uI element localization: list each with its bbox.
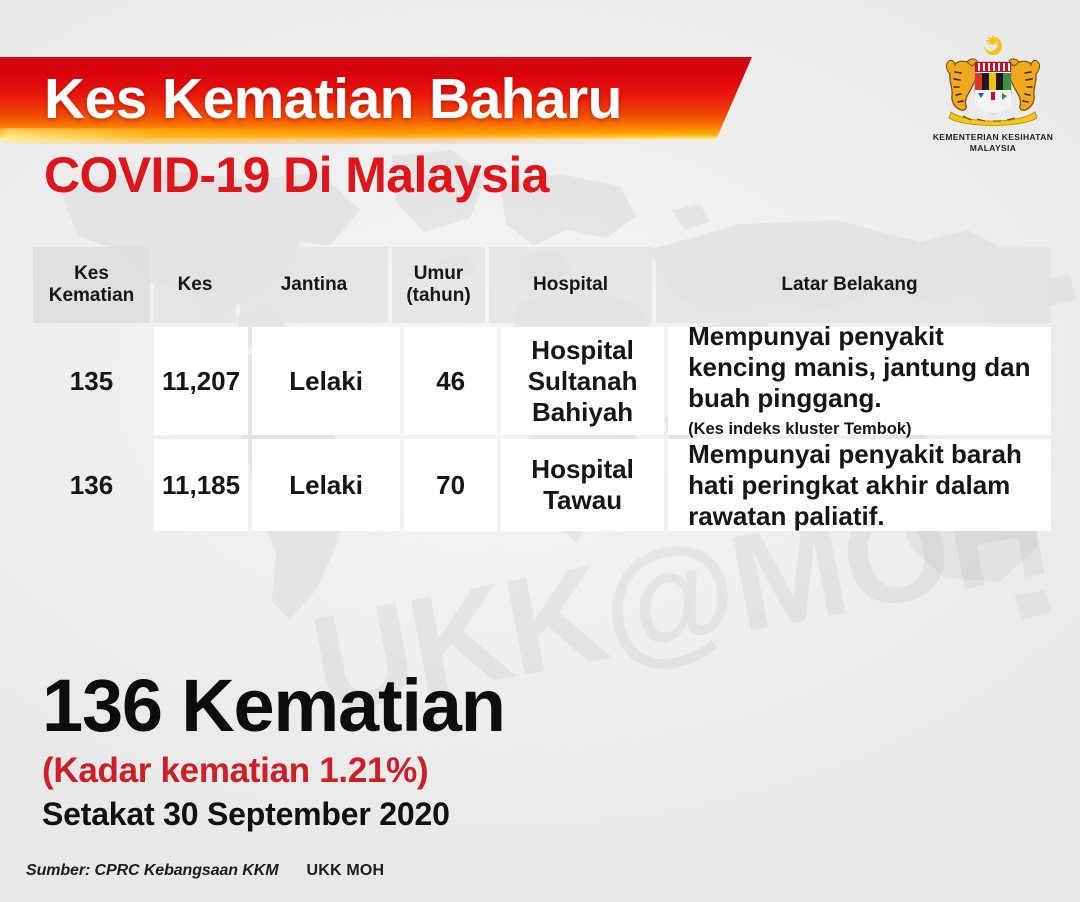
latar-belakang-text: Mempunyai penyakit barah hati peringkat … xyxy=(688,439,1022,531)
table-row: 136 11,185 Lelaki 70 Hospital Tawau Memp… xyxy=(33,439,1051,531)
page-subtitle: COVID-19 Di Malaysia xyxy=(44,144,549,206)
latar-belakang-note: (Kes indeks kluster Tembok) xyxy=(688,417,1043,441)
coat-of-arms-icon xyxy=(937,32,1049,130)
column-header-kes-kematian-line1: Kes xyxy=(49,263,135,285)
tiger-right xyxy=(1009,59,1040,110)
cell-kes-kematian: 136 xyxy=(33,439,150,531)
summary: 136 Kematian (Kadar kematian 1.21%) Seta… xyxy=(42,665,505,835)
fatality-rate: (Kadar kematian 1.21%) xyxy=(42,749,505,793)
shield xyxy=(975,62,1011,114)
as-of-date: Setakat 30 September 2020 xyxy=(42,794,505,835)
cell-latar-belakang: Mempunyai penyakit barah hati peringkat … xyxy=(668,439,1051,531)
emblem-caption: KEMENTERIAN KESIHATAN MALAYSIA xyxy=(920,132,1066,153)
cell-kes: 11,185 xyxy=(154,439,248,531)
column-header-kes-kematian-line2: Kematian xyxy=(49,285,135,307)
tiger-left xyxy=(946,59,977,110)
emblem-caption-line2: MALAYSIA xyxy=(920,143,1066,154)
header: Kes Kematian Baharu COVID-19 Di Malaysia xyxy=(0,0,1080,215)
emblem-caption-line1: KEMENTERIAN KESIHATAN xyxy=(920,132,1066,143)
latar-belakang-text: Mempunyai penyakit kencing manis, jantun… xyxy=(688,321,1030,413)
deaths-table: Kes Kematian Kes Jantina Umur (tahun) Ho… xyxy=(33,247,1051,531)
cell-jantina: Lelaki xyxy=(252,439,400,531)
column-header-kes: Kes xyxy=(154,247,236,323)
cell-hospital: Hospital Sultanah Bahiyah xyxy=(501,327,664,435)
page-title: Kes Kematian Baharu xyxy=(44,62,622,136)
total-deaths: 136 Kematian xyxy=(42,665,505,747)
cell-kes-kematian: 135 xyxy=(33,327,150,435)
column-header-umur-line1: Umur xyxy=(406,263,470,285)
table-row: 135 11,207 Lelaki 46 Hospital Sultanah B… xyxy=(33,327,1051,435)
cell-jantina: Lelaki xyxy=(252,327,400,435)
column-header-umur: Umur (tahun) xyxy=(392,247,485,323)
cell-kes: 11,207 xyxy=(154,327,248,435)
cell-hospital: Hospital Tawau xyxy=(501,439,664,531)
footer-source: Sumber: CPRC Kebangsaan KKM xyxy=(26,862,278,880)
footer: Sumber: CPRC Kebangsaan KKM UKK MOH xyxy=(26,862,384,880)
cell-umur: 70 xyxy=(404,439,497,531)
column-header-kes-kematian: Kes Kematian xyxy=(33,247,150,323)
cell-umur: 46 xyxy=(404,327,497,435)
cell-latar-belakang: Mempunyai penyakit kencing manis, jantun… xyxy=(668,327,1051,435)
column-header-latar-belakang: Latar Belakang xyxy=(656,247,1051,323)
emblem: KEMENTERIAN KESIHATAN MALAYSIA xyxy=(920,32,1066,153)
column-header-umur-line2: (tahun) xyxy=(406,285,470,307)
table-header-row: Kes Kematian Kes Jantina Umur (tahun) Ho… xyxy=(33,247,1051,323)
column-header-hospital: Hospital xyxy=(489,247,652,323)
footer-unit: UKK MOH xyxy=(306,862,384,880)
column-header-jantina: Jantina xyxy=(240,247,388,323)
